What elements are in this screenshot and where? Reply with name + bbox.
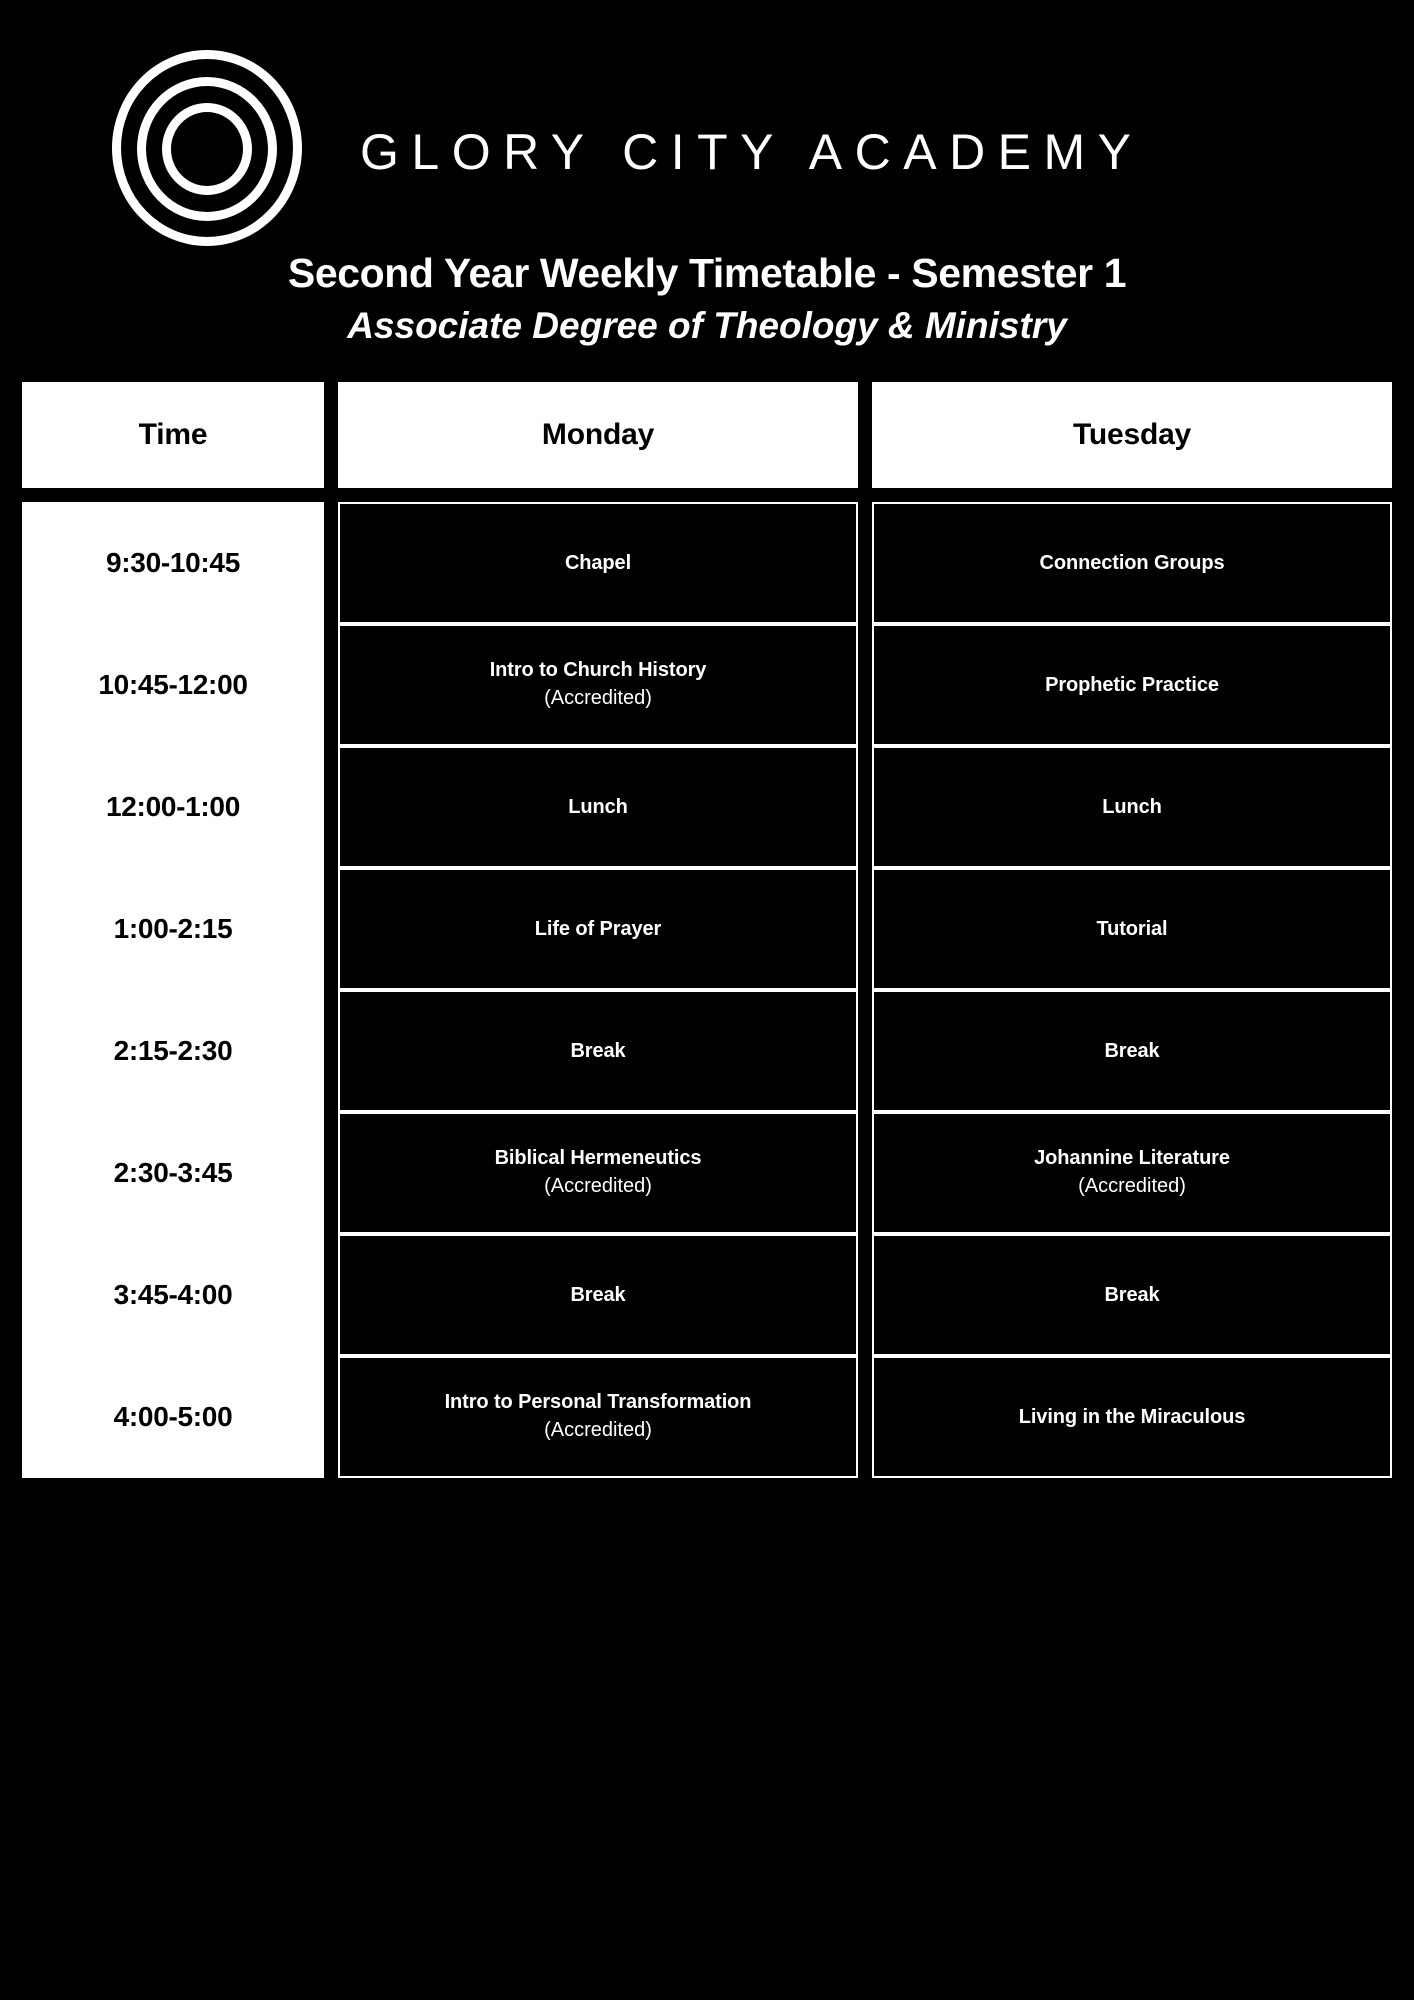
- class-subject: Living in the Miraculous: [1019, 1405, 1246, 1430]
- class-cell-monday: Break: [338, 1234, 858, 1356]
- class-subject: Break: [1104, 1283, 1159, 1308]
- class-subject: Chapel: [565, 551, 631, 576]
- class-cell-tuesday: Tutorial: [872, 868, 1392, 990]
- time-slot-cell: 9:30-10:45: [22, 502, 324, 624]
- time-slot-cell: 12:00-1:00: [22, 746, 324, 868]
- time-slot-cell: 2:30-3:45: [22, 1112, 324, 1234]
- page-subtitle: Associate Degree of Theology & Ministry: [40, 302, 1374, 350]
- class-cell-tuesday: Break: [872, 990, 1392, 1112]
- brand-header: GLORY CITY ACADEMY: [0, 0, 1414, 248]
- timetable-row: 12:00-1:00LunchLunch: [22, 746, 1392, 868]
- class-subject: Intro to Personal Transformation: [445, 1390, 752, 1415]
- class-subject: Prophetic Practice: [1045, 673, 1219, 698]
- timetable-row: 3:45-4:00BreakBreak: [22, 1234, 1392, 1356]
- class-subject: Break: [570, 1283, 625, 1308]
- time-slot-cell: 4:00-5:00: [22, 1356, 324, 1478]
- timetable: Time Monday Tuesday 9:30-10:45ChapelConn…: [0, 382, 1414, 1478]
- class-subject: Intro to Church History: [490, 658, 707, 683]
- timetable-row: 9:30-10:45ChapelConnection Groups: [22, 502, 1392, 624]
- class-subject: Johannine Literature: [1034, 1146, 1230, 1171]
- brand-wordmark: GLORY CITY ACADEMY: [360, 119, 1144, 177]
- column-header-time: Time: [22, 382, 324, 488]
- class-subject: Life of Prayer: [535, 917, 661, 942]
- class-subject: Lunch: [568, 795, 628, 820]
- class-subject: Break: [1104, 1039, 1159, 1064]
- class-cell-tuesday: Prophetic Practice: [872, 624, 1392, 746]
- class-cell-monday: Break: [338, 990, 858, 1112]
- logo-ring-inner: [162, 103, 252, 195]
- timetable-row: 4:00-5:00Intro to Personal Transformatio…: [22, 1356, 1392, 1478]
- concentric-rings-logo-icon: [112, 50, 302, 246]
- time-slot-cell: 1:00-2:15: [22, 868, 324, 990]
- class-cell-monday: Lunch: [338, 746, 858, 868]
- class-subject: Tutorial: [1096, 917, 1167, 942]
- accredited-note: (Accredited): [544, 1417, 652, 1444]
- time-slot-cell: 3:45-4:00: [22, 1234, 324, 1356]
- class-cell-tuesday: Connection Groups: [872, 502, 1392, 624]
- class-cell-tuesday: Living in the Miraculous: [872, 1356, 1392, 1478]
- class-cell-monday: Biblical Hermeneutics(Accredited): [338, 1112, 858, 1234]
- column-header-monday: Monday: [338, 382, 858, 488]
- time-slot-cell: 10:45-12:00: [22, 624, 324, 746]
- class-cell-monday: Life of Prayer: [338, 868, 858, 990]
- class-cell-tuesday: Johannine Literature(Accredited): [872, 1112, 1392, 1234]
- class-cell-monday: Chapel: [338, 502, 858, 624]
- column-header-tuesday: Tuesday: [872, 382, 1392, 488]
- class-subject: Lunch: [1102, 795, 1162, 820]
- class-subject: Biblical Hermeneutics: [495, 1146, 702, 1171]
- timetable-header-row: Time Monday Tuesday: [22, 382, 1392, 488]
- timetable-row: 1:00-2:15Life of PrayerTutorial: [22, 868, 1392, 990]
- class-cell-monday: Intro to Personal Transformation(Accredi…: [338, 1356, 858, 1478]
- title-block: Second Year Weekly Timetable - Semester …: [0, 248, 1414, 350]
- class-subject: Break: [570, 1039, 625, 1064]
- timetable-row: 2:15-2:30BreakBreak: [22, 990, 1392, 1112]
- class-cell-tuesday: Break: [872, 1234, 1392, 1356]
- time-slot-cell: 2:15-2:30: [22, 990, 324, 1112]
- class-cell-monday: Intro to Church History(Accredited): [338, 624, 858, 746]
- accredited-note: (Accredited): [1078, 1173, 1186, 1200]
- accredited-note: (Accredited): [544, 1173, 652, 1200]
- page-title: Second Year Weekly Timetable - Semester …: [40, 248, 1374, 298]
- timetable-row: 2:30-3:45Biblical Hermeneutics(Accredite…: [22, 1112, 1392, 1234]
- class-cell-tuesday: Lunch: [872, 746, 1392, 868]
- accredited-note: (Accredited): [544, 685, 652, 712]
- class-subject: Connection Groups: [1040, 551, 1225, 576]
- timetable-row: 10:45-12:00Intro to Church History(Accre…: [22, 624, 1392, 746]
